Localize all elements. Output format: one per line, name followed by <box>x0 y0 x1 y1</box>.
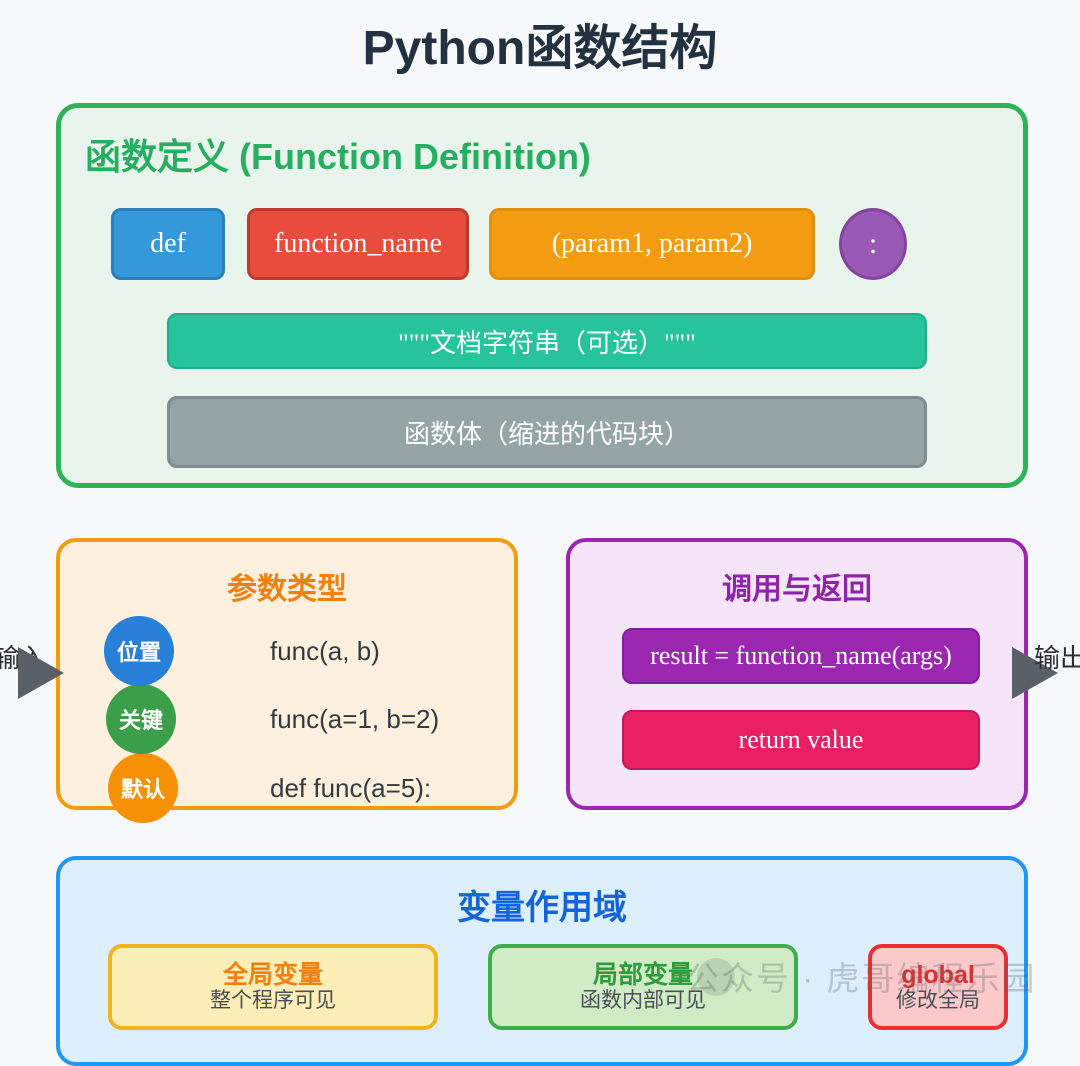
param-example-positional: func(a, b) <box>270 636 570 667</box>
param-badge-positional[interactable]: 位置 <box>104 616 174 686</box>
scope-card-subtitle: 整个程序可见 <box>210 989 336 1012</box>
function-body-bar[interactable]: 函数体（缩进的代码块） <box>167 396 927 468</box>
call-statement-bar[interactable]: result = function_name(args) <box>622 628 980 684</box>
def-keyword-chip[interactable]: def <box>111 208 225 280</box>
parameter-types-panel: 参数类型 位置 关键 默认 func(a, b) func(a=1, b=2) … <box>56 538 518 810</box>
return-statement-bar[interactable]: return value <box>622 710 980 770</box>
parameters-chip[interactable]: (param1, param2) <box>489 208 815 280</box>
function-definition-heading: 函数定义 (Function Definition) <box>85 128 591 180</box>
colon-chip[interactable]: : <box>839 208 907 280</box>
function-name-chip[interactable]: function_name <box>247 208 469 280</box>
call-and-return-title: 调用与返回 <box>570 564 1024 608</box>
param-example-default: def func(a=5): <box>270 773 570 804</box>
variable-scope-title: 变量作用域 <box>60 880 1024 929</box>
param-badge-keyword[interactable]: 关键 <box>106 684 176 754</box>
param-example-keyword: func(a=1, b=2) <box>270 704 570 735</box>
param-badge-default[interactable]: 默认 <box>108 753 178 823</box>
watermark-text: 公众号 · 虎哥编程乐园 <box>686 952 1036 1000</box>
parameter-types-title: 参数类型 <box>60 564 514 608</box>
scope-card-title: 局部变量 <box>593 962 693 988</box>
docstring-bar[interactable]: """文档字符串（可选）""" <box>167 313 927 369</box>
function-signature-row: def function_name (param1, param2) : <box>61 208 1023 280</box>
scope-card-title: 全局变量 <box>223 962 323 988</box>
diagram-canvas: Python函数结构 函数定义 (Function Definition) de… <box>0 0 1080 1033</box>
input-arrow-icon <box>18 647 64 699</box>
call-and-return-panel: 调用与返回 result = function_name(args) retur… <box>566 538 1028 810</box>
scope-card-global-variable[interactable]: 全局变量 整个程序可见 <box>108 944 438 1030</box>
function-definition-panel: 函数定义 (Function Definition) def function_… <box>56 103 1028 488</box>
call-statement-text: result = function_name(args) <box>650 641 952 671</box>
output-label: 输出 <box>1034 638 1080 675</box>
page-title: Python函数结构 <box>0 8 1080 78</box>
